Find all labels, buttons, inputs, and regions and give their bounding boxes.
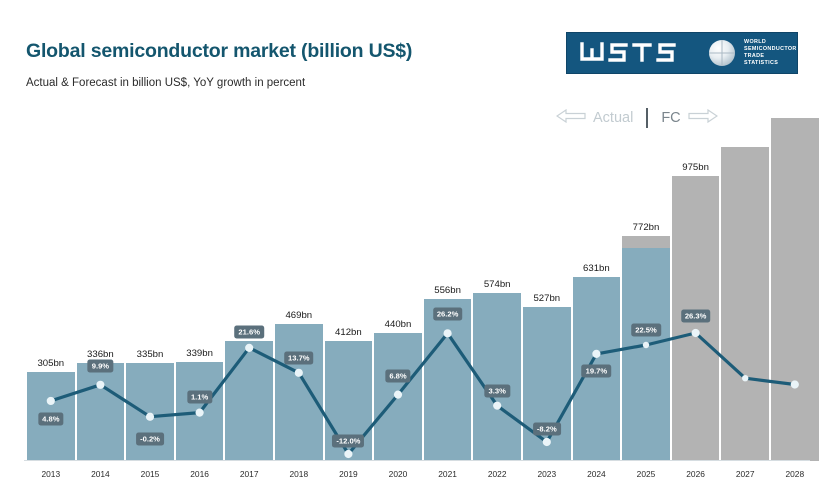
growth-badge-2013: 4.8% [38,412,63,425]
bar-segment-actual [176,362,224,461]
arrow-right-outline-icon [688,109,718,128]
wsts-logo-text: WORLD SEMICONDUCTOR TRADE STATISTICS [744,39,797,68]
arrow-left-outline-icon [556,109,586,128]
legend-label-actual: Actual [593,110,633,126]
bar-segment-forecast [622,236,670,248]
x-axis-label-2027: 2027 [736,469,755,479]
x-axis-label-2013: 2013 [41,469,60,479]
bar-2027 [721,147,769,461]
bar-2021 [424,299,472,461]
bar-2017 [225,341,273,461]
bar-value-2015: 335bn [137,349,164,360]
bar-value-2022: 574bn [484,279,511,290]
wsts-wordmark-icon [579,42,697,64]
bar-value-2013: 305bn [37,358,64,369]
bar-segment-actual [523,307,571,461]
bar-2020 [374,333,422,461]
growth-badge-2016: 1.1% [187,390,212,403]
chart-legend: Actual FC [556,107,718,129]
growth-badge-2022: 3.3% [485,384,510,397]
x-axis-label-2022: 2022 [488,469,507,479]
bar-segment-actual [275,324,323,461]
x-axis-label-2015: 2015 [141,469,160,479]
growth-badge-2018: 13.7% [284,351,314,364]
bar-segment-actual [126,363,174,461]
bar-value-2021: 556bn [434,285,461,296]
bar-value-2026: 975bn [682,162,709,173]
growth-badge-2024: 19.7% [582,364,612,377]
bar-2025 [622,236,670,461]
bar-segment-actual [473,293,521,461]
bar-segment-actual [424,299,472,461]
bar-2023 [523,307,571,461]
x-axis-label-2021: 2021 [438,469,457,479]
bar-value-2020: 440bn [385,319,412,330]
bar-segment-forecast [771,118,819,461]
bar-segment-forecast [721,147,769,461]
wsts-logo-line1: WORLD [744,39,797,46]
x-axis-label-2024: 2024 [587,469,606,479]
bar-value-2019: 412bn [335,327,362,338]
bar-segment-actual [374,333,422,461]
growth-badge-2026: 26.3% [681,310,711,323]
bar-2018 [275,324,323,461]
bar-value-2018: 469bn [285,310,312,321]
x-axis-label-2018: 2018 [289,469,308,479]
wsts-logo-line3: TRADE STATISTICS [744,53,797,67]
bar-2015 [126,363,174,461]
x-axis-label-2020: 2020 [389,469,408,479]
globe-icon [709,40,735,66]
bar-segment-actual [77,363,125,461]
chart-page: Global semiconductor market (billion US$… [0,0,833,501]
x-axis-label-2026: 2026 [686,469,705,479]
growth-badge-2015: -0.2% [136,432,164,445]
bar-value-2024: 631bn [583,263,610,274]
bar-value-2016: 339bn [186,348,213,359]
bar-2014 [77,363,125,461]
x-axis-label-2016: 2016 [190,469,209,479]
page-title: Global semiconductor market (billion US$… [26,40,412,63]
bar-value-2023: 527bn [533,293,560,304]
bar-value-2025: 772bn [633,222,660,233]
legend-separator [646,108,648,128]
wsts-logo: WORLD SEMICONDUCTOR TRADE STATISTICS [566,32,798,74]
legend-label-fc: FC [661,110,680,126]
bar-2022 [473,293,521,461]
bar-segment-actual [225,341,273,461]
x-axis-label-2023: 2023 [537,469,556,479]
x-axis-label-2025: 2025 [637,469,656,479]
growth-badge-2021: 26.2% [433,308,463,321]
growth-badge-2023: -8.2% [533,422,561,435]
bar-segment-actual [622,248,670,461]
growth-badge-2025: 22.5% [631,324,661,337]
x-axis-line [24,460,810,461]
bar-2016 [176,362,224,461]
growth-badge-2017: 21.6% [234,325,264,338]
bar-2028 [771,118,819,461]
wsts-logo-line2: SEMICONDUCTOR [744,46,797,53]
x-axis-label-2014: 2014 [91,469,110,479]
x-axis-label-2028: 2028 [785,469,804,479]
page-subtitle: Actual & Forecast in billion US$, YoY gr… [26,77,305,89]
x-axis-label-2017: 2017 [240,469,259,479]
bar-value-2014: 336bn [87,349,114,360]
x-axis-label-2019: 2019 [339,469,358,479]
growth-badge-2020: 6.8% [385,369,410,382]
growth-badge-2019: -12.0% [332,435,364,448]
growth-badge-2014: 9.9% [88,359,113,372]
